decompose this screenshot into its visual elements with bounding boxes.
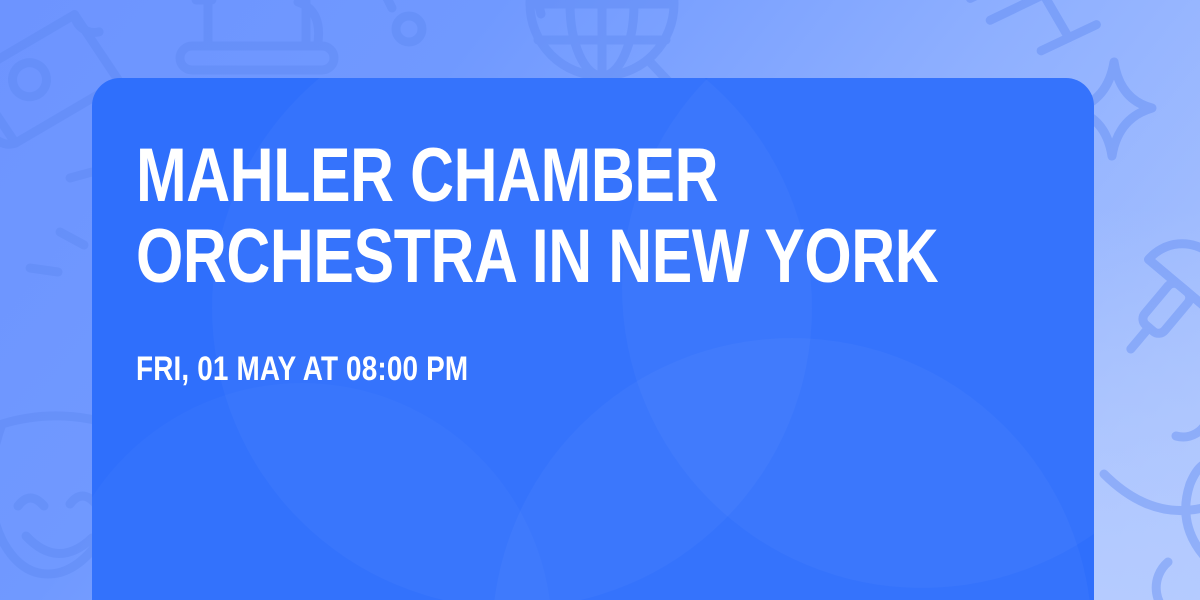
ribbon-swirl-icon	[1104, 418, 1200, 600]
confetti-streak-icon	[30, 172, 92, 272]
laptop-icon	[180, 0, 334, 70]
event-card-content: Mahler Chamber Orchestra in New York Fri…	[136, 136, 1046, 388]
confetti-dot-icon	[386, 0, 541, 42]
microphone-icon	[1097, 226, 1200, 378]
music-stand-icon	[959, 0, 1126, 64]
event-title: Mahler Chamber Orchestra in New York	[136, 136, 1046, 297]
event-banner: Mahler Chamber Orchestra in New York Fri…	[0, 0, 1200, 600]
event-date: Fri, 01 May at 08:00 PM	[136, 297, 1046, 388]
event-card[interactable]: Mahler Chamber Orchestra in New York Fri…	[92, 78, 1094, 600]
